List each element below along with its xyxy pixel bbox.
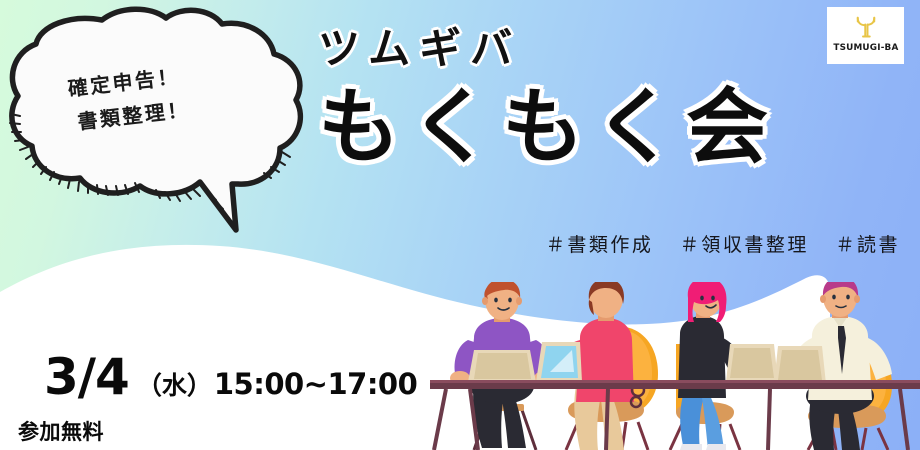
logo-wordmark: TSUMUGI-BA: [833, 42, 898, 53]
event-date-row: 3/4 （水） 15:00~17:00: [44, 352, 417, 402]
event-date: 3/4: [44, 352, 129, 402]
speech-bubble-text: 確定申告！ 書類整理！: [66, 59, 192, 141]
hashtag-item: ＃書類作成: [546, 234, 654, 256]
headline-block: ツムギバ もくもく会: [318, 28, 898, 174]
tsumugi-mark-icon: [851, 11, 881, 41]
main-title: もくもく会: [318, 82, 898, 174]
event-time: 15:00~17:00: [214, 370, 417, 399]
hashtag-item: ＃読書: [835, 234, 900, 256]
illustration-people-working: [430, 282, 920, 450]
hashtag-list: ＃書類作成 ＃領収書整理 ＃読書: [480, 230, 900, 257]
person-4-white-shirt: [774, 282, 892, 450]
event-banner: 確定申告！ 書類整理！ ツムギバ もくもく会 ＃書類作成 ＃領収書整理 ＃読書 …: [0, 0, 920, 450]
person-3-magenta-hair: [670, 282, 778, 450]
event-price: 参加無料: [18, 416, 417, 446]
kana-subtitle: ツムギバ: [318, 28, 898, 70]
hashtag-item: ＃領収書整理: [680, 234, 809, 256]
brand-logo: TSUMUGI-BA: [827, 7, 904, 64]
speech-bubble: 確定申告！ 書類整理！: [4, 4, 314, 239]
event-details: 3/4 （水） 15:00~17:00 参加無料: [44, 352, 417, 446]
event-day-of-week: （水）: [137, 373, 212, 398]
person-2-pink: [536, 282, 658, 450]
